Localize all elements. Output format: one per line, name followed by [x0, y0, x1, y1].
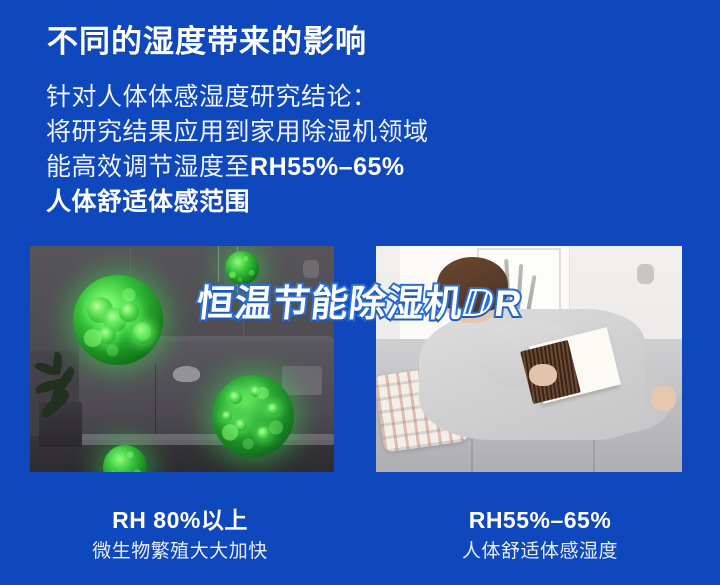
microbe-cell — [229, 391, 242, 404]
microbe-cell — [87, 297, 113, 323]
copy-line-3-prefix: 能高效调节湿度至 — [46, 153, 250, 181]
copy-line-3-humidity-value: RH55%–65% — [250, 153, 405, 181]
caption-subtitle: 人体舒适体感湿度 — [360, 539, 720, 565]
microbe-cluster-large — [73, 275, 163, 365]
copy-line-4: 人体舒适体感范围 — [46, 185, 476, 220]
caption-high-humidity: RH 80%以上 微生物繁殖大大加快 — [0, 505, 360, 565]
copy-line-1: 针对人体体感湿度研究结论： — [46, 80, 476, 115]
caption-title: RH 80%以上 — [0, 505, 360, 535]
person-foot — [651, 386, 675, 411]
copy-line-2: 将研究结果应用到家用除湿机领域 — [46, 115, 476, 150]
product-watermark: 恒温节能除湿机ⅅR — [194, 273, 525, 327]
microbe-cell — [267, 403, 279, 415]
caption-subtitle: 微生物繁殖大大加快 — [0, 539, 360, 565]
intro-copy-block: 针对人体体感湿度研究结论： 将研究结果应用到家用除湿机领域 能高效调节湿度至RH… — [46, 80, 476, 220]
caption-title: RH55%–65% — [360, 505, 720, 535]
microbe-cell — [103, 308, 127, 332]
sofa-armrest — [173, 366, 200, 382]
microbe-cluster-medium — [212, 375, 294, 457]
caption-comfort-humidity: RH55%–65% 人体舒适体感湿度 — [360, 505, 720, 565]
microbe-cell — [98, 326, 116, 344]
sofa-seam — [155, 364, 156, 436]
microbe-cell — [235, 419, 247, 431]
person-hand — [529, 364, 557, 387]
microbe-cell — [132, 322, 154, 344]
microbe-cell — [257, 427, 270, 440]
microbe-cluster-small — [103, 445, 147, 472]
sofa-base-trim — [79, 434, 334, 445]
wall-fixture — [637, 264, 654, 284]
poster-canvas: 不同的湿度带来的影响 针对人体体感湿度研究结论： 将研究结果应用到家用除湿机领域… — [0, 0, 720, 585]
microbe-cell — [250, 386, 261, 397]
microbe-cell — [222, 411, 232, 421]
microbe-cell — [119, 302, 139, 322]
copy-line-3: 能高效调节湿度至RH55%–65% — [46, 150, 476, 185]
page-title: 不同的湿度带来的影响 — [47, 16, 367, 61]
